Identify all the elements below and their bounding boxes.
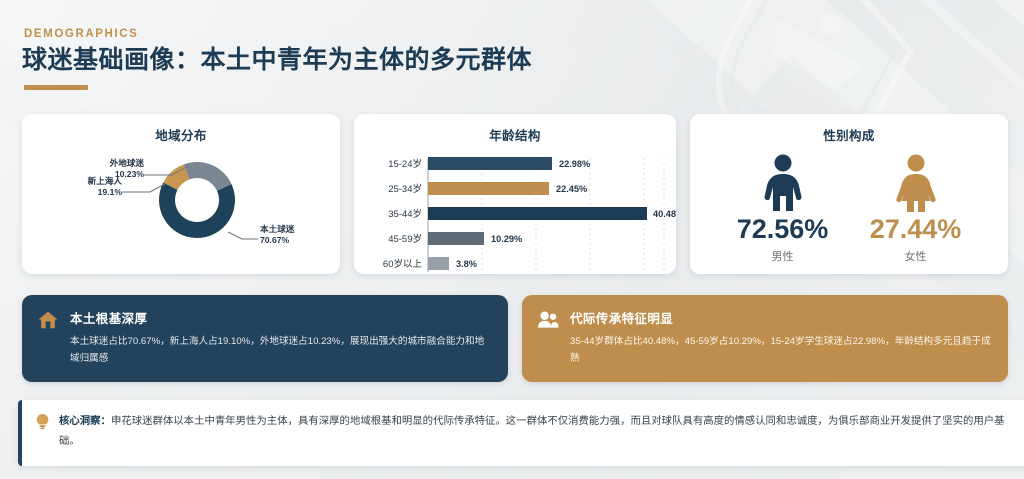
gender-stats: 72.56% 男性 27.44% 女性 (690, 144, 1008, 264)
donut-label-outsider-name: 外地球迷 (110, 158, 144, 168)
home-icon (37, 309, 59, 331)
bar-xtick-labels: 0% 10% 20% 30% 40% 50% (422, 273, 676, 274)
gender-female-value: 27.44% (856, 216, 976, 243)
insight-text-generational: 代际传承特征明显 35-44岁群体占比40.48%，45-59岁占10.29%，… (570, 308, 992, 368)
core-insight-bar: 核心洞察：申花球迷群体以本土中青年男性为主体，具有深厚的地域根基和明显的代际传承… (18, 400, 1024, 466)
svg-text:10%: 10% (474, 273, 491, 274)
donut-label-local-name: 本土球迷 (260, 224, 294, 234)
donut-label-new-shanghainese-name: 新上海人 (88, 176, 122, 186)
core-insight-label: 核心洞察： (59, 416, 111, 427)
donut-leader-line-local (228, 232, 258, 239)
bar-chart-age: 15-24岁 22.98% 25-34岁 22.45% 35-44岁 40.48… (354, 144, 676, 274)
page-title: 球迷基础画像：本土中青年为主体的多元群体 (22, 46, 722, 76)
section-eyebrow: DEMOGRAPHICS (24, 28, 722, 40)
card-region-distribution: 地域分布 外地球迷 10.23% (22, 114, 340, 274)
insight-boxes-row: 本土根基深厚 本土球迷占比70.67%，新上海人占19.10%，外地球迷占10.… (22, 295, 1008, 382)
charts-row: 地域分布 外地球迷 10.23% (22, 114, 1008, 274)
card-title-gender: 性别构成 (690, 125, 1008, 144)
donut-slice-outsider (184, 162, 232, 191)
core-insight-body: 申花球迷群体以本土中青年男性为主体，具有深厚的地域根基和明显的代际传承特征。这一… (59, 416, 1005, 447)
bar-value-3: 10.29% (491, 234, 522, 244)
bar-cat-label-1: 25-34岁 (388, 183, 422, 195)
svg-text:30%: 30% (582, 273, 599, 274)
svg-text:40%: 40% (636, 273, 653, 274)
card-gender-composition: 性别构成 72.56% 男性 (690, 114, 1008, 274)
gender-female-label: 女性 (856, 248, 976, 264)
gender-female-block: 27.44% 女性 (856, 150, 976, 264)
card-title-age: 年龄结构 (354, 125, 676, 144)
bar-value-2: 40.48% (653, 209, 676, 219)
bar-1 (428, 182, 549, 195)
card-age-structure: 年龄结构 15-24岁 22.98% (354, 114, 676, 274)
donut-label-new-shanghainese: 新上海人 19.1% (22, 176, 122, 197)
insight-desc-generational: 35-44岁群体占比40.48%，45-59岁占10.29%，15-24岁学生球… (570, 334, 992, 368)
svg-text:20%: 20% (528, 273, 545, 274)
donut-label-local: 本土球迷 70.67% (260, 224, 294, 245)
female-icon (856, 150, 976, 212)
lightbulb-icon (35, 413, 50, 430)
demographics-slide: SHANGHAI DEMOGRAPHICS 球迷基础画像：本土中青年为主体的多元… (0, 0, 1024, 479)
donut-label-local-value: 70.67% (260, 235, 294, 246)
bar-cat-label-4: 60岁以上 (383, 258, 423, 270)
insight-title-local-roots: 本土根基深厚 (70, 308, 492, 327)
svg-text:50%: 50% (668, 273, 676, 274)
gender-male-value: 72.56% (723, 216, 843, 243)
donut-slice-local (159, 183, 235, 238)
insight-title-generational: 代际传承特征明显 (570, 308, 992, 327)
bar-2 (428, 207, 647, 220)
bar-svg: 15-24岁 22.98% 25-34岁 22.45% 35-44岁 40.48… (354, 144, 676, 274)
gender-male-label: 男性 (723, 248, 843, 264)
bar-value-0: 22.98% (559, 159, 590, 169)
bar-4 (428, 257, 449, 270)
bar-cat-label-2: 35-44岁 (388, 208, 422, 220)
bar-cat-label-0: 15-24岁 (388, 158, 422, 170)
donut-chart-region: 外地球迷 10.23% 新上海人 19.1% 本土球迷 70.67% (22, 144, 340, 266)
insight-desc-local-roots: 本土球迷占比70.67%，新上海人占19.10%，外地球迷占10.23%，展现出… (70, 334, 492, 368)
svg-text:0%: 0% (422, 273, 435, 274)
core-insight-text: 核心洞察：申花球迷群体以本土中青年男性为主体，具有深厚的地域根基和明显的代际传承… (59, 412, 1023, 453)
gender-male-block: 72.56% 男性 (723, 150, 843, 264)
page-header: DEMOGRAPHICS 球迷基础画像：本土中青年为主体的多元群体 (22, 28, 722, 90)
bar-value-4: 3.8% (456, 259, 477, 269)
donut-leader-line-new (122, 184, 165, 192)
bar-0 (428, 157, 552, 170)
bar-value-1: 22.45% (556, 184, 587, 194)
card-title-region: 地域分布 (22, 125, 340, 144)
insight-box-generational: 代际传承特征明显 35-44岁群体占比40.48%，45-59岁占10.29%，… (522, 295, 1008, 382)
male-icon (723, 150, 843, 212)
bar-3 (428, 232, 484, 245)
bar-cat-label-3: 45-59岁 (388, 233, 422, 245)
title-underline (24, 85, 88, 90)
insight-box-local-roots: 本土根基深厚 本土球迷占比70.67%，新上海人占19.10%，外地球迷占10.… (22, 295, 508, 382)
insight-text-local-roots: 本土根基深厚 本土球迷占比70.67%，新上海人占19.10%，外地球迷占10.… (70, 308, 492, 368)
people-icon (537, 309, 559, 331)
donut-label-new-shanghainese-value: 19.1% (22, 187, 122, 198)
